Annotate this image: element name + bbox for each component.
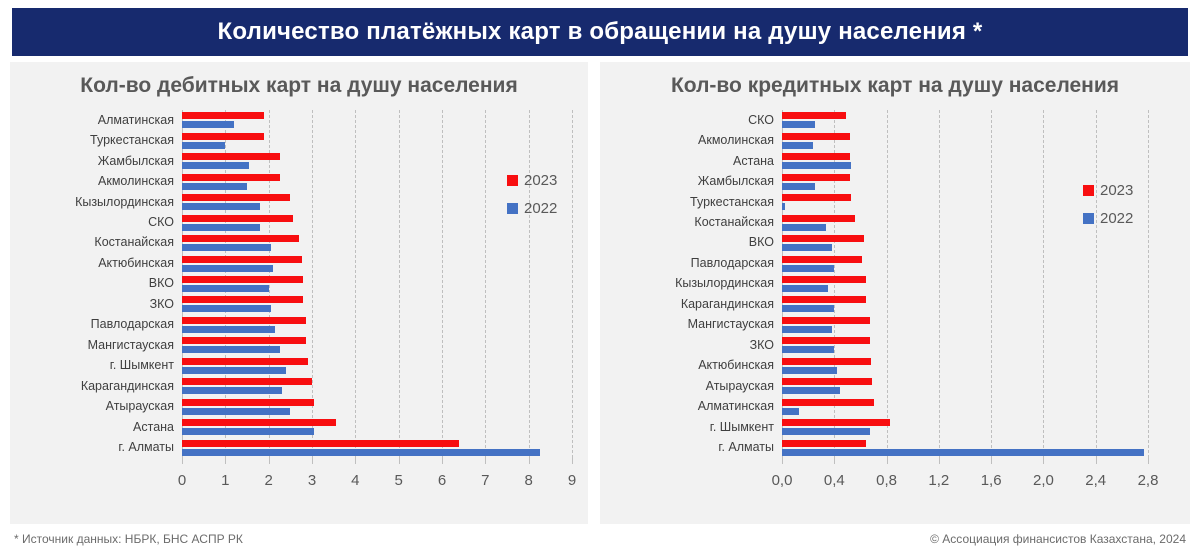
category-label: Акмолинская	[600, 134, 782, 147]
chart-row: г. Шымкент	[10, 356, 588, 376]
bar-2022	[182, 224, 260, 231]
chart-row: ЗКО	[10, 294, 588, 314]
bar-2023	[182, 112, 264, 119]
bar-2023	[182, 235, 299, 242]
axis-tick-label: 6	[438, 472, 446, 489]
bar-2022	[782, 346, 834, 353]
bar-2023	[182, 419, 336, 426]
bar-2023	[782, 419, 890, 426]
axis-tick-label: 9	[568, 472, 576, 489]
bar-2022	[782, 428, 870, 435]
bar-group	[182, 274, 588, 294]
bar-group	[182, 438, 588, 458]
category-label: Атырауская	[10, 400, 182, 413]
chart-row: Алматинская	[600, 397, 1190, 417]
bar-2023	[182, 317, 306, 324]
category-label: ВКО	[10, 277, 182, 290]
category-label: Туркестанская	[600, 196, 782, 209]
bar-group	[782, 130, 1190, 150]
axis-tickmark	[355, 458, 356, 464]
bar-2022	[182, 305, 271, 312]
plot-area-credit: СКОАкмолинскаяАстанаЖамбылскаяТуркестанс…	[600, 110, 1190, 524]
axis-tickmark	[182, 458, 183, 464]
bar-2023	[782, 194, 851, 201]
category-label: г. Шымкент	[600, 421, 782, 434]
chart-row: ЗКО	[600, 335, 1190, 355]
bar-group	[182, 315, 588, 335]
category-label: г. Алматы	[10, 441, 182, 454]
bar-2023	[182, 378, 312, 385]
chart-row: г. Шымкент	[600, 417, 1190, 437]
chart-row: Астана	[10, 417, 588, 437]
chart-row: Мангистауская	[600, 315, 1190, 335]
bar-2022	[182, 121, 234, 128]
category-label: Павлодарская	[10, 318, 182, 331]
bar-2022	[182, 387, 282, 394]
bar-2022	[182, 285, 269, 292]
legend-item-2023[interactable]: 2023	[507, 172, 557, 189]
chart-row: Кызылординская	[10, 192, 588, 212]
bar-2023	[782, 358, 871, 365]
category-label: ЗКО	[600, 339, 782, 352]
axis-tickmark	[1148, 458, 1149, 464]
bar-2023	[782, 296, 866, 303]
bar-2023	[182, 194, 290, 201]
bar-2023	[782, 235, 864, 242]
axis-tick-label: 7	[481, 472, 489, 489]
bar-2023	[782, 215, 855, 222]
category-label: г. Алматы	[600, 441, 782, 454]
bar-group	[182, 253, 588, 273]
chart-row: СКО	[600, 110, 1190, 130]
axis-tick-label: 2	[264, 472, 272, 489]
chart-panel-credit: Кол-во кредитных карт на душу населения …	[600, 62, 1190, 524]
bar-2022	[182, 244, 271, 251]
category-label: Карагандинская	[10, 380, 182, 393]
category-label: Астана	[600, 155, 782, 168]
bar-rows-credit: СКОАкмолинскаяАстанаЖамбылскаяТуркестанс…	[600, 110, 1190, 458]
category-label: Алматинская	[10, 114, 182, 127]
category-label: Мангистауская	[10, 339, 182, 352]
bar-2022	[782, 285, 828, 292]
bar-2022	[782, 305, 834, 312]
legend-swatch-icon	[507, 175, 518, 186]
bar-2022	[182, 449, 540, 456]
chart-row: Актюбинская	[10, 253, 588, 273]
axis-tickmark	[442, 458, 443, 464]
bar-group	[182, 151, 588, 171]
bar-2022	[782, 449, 1144, 456]
bar-2022	[782, 203, 785, 210]
bar-2022	[182, 367, 286, 374]
bar-group	[182, 294, 588, 314]
axis-tick-label: 2,0	[1033, 472, 1054, 489]
bar-group	[182, 376, 588, 396]
chart-row: Актюбинская	[600, 356, 1190, 376]
category-label: Актюбинская	[10, 257, 182, 270]
bar-group	[782, 438, 1190, 458]
chart-row: ВКО	[600, 233, 1190, 253]
axis-tickmark	[312, 458, 313, 464]
bar-group	[782, 253, 1190, 273]
infographic-page: Количество платёжных карт в обращении на…	[0, 0, 1200, 555]
category-label: Костанайская	[600, 216, 782, 229]
category-label: ЗКО	[10, 298, 182, 311]
page-title: Количество платёжных карт в обращении на…	[218, 18, 983, 46]
axis-tick-label: 3	[308, 472, 316, 489]
chart-row: Павлодарская	[10, 315, 588, 335]
axis-tickmark	[939, 458, 940, 464]
bar-2022	[182, 346, 280, 353]
axis-tick-label: 8	[524, 472, 532, 489]
legend-item-2022[interactable]: 2022	[507, 200, 557, 217]
category-label: СКО	[10, 216, 182, 229]
legend-label: 2022	[1100, 210, 1133, 227]
category-label: Кызылординская	[600, 277, 782, 290]
bar-rows-debit: АлматинскаяТуркестанскаяЖамбылскаяАкмоли…	[10, 110, 588, 458]
bar-2023	[782, 112, 846, 119]
axis-tick-label: 1,2	[928, 472, 949, 489]
bar-2022	[782, 121, 815, 128]
bar-group	[782, 110, 1190, 130]
bar-group	[182, 397, 588, 417]
bar-2022	[182, 183, 247, 190]
category-label: СКО	[600, 114, 782, 127]
bar-2022	[182, 408, 290, 415]
bar-2022	[182, 142, 225, 149]
chart-row: Карагандинская	[600, 294, 1190, 314]
bar-2023	[782, 174, 850, 181]
bar-2023	[782, 399, 874, 406]
category-label: Актюбинская	[600, 359, 782, 372]
axis-tickmark	[225, 458, 226, 464]
bar-2023	[182, 399, 314, 406]
axis-tickmark	[572, 458, 573, 464]
chart-row: г. Алматы	[600, 438, 1190, 458]
bar-2022	[182, 428, 314, 435]
chart-row: Астана	[600, 151, 1190, 171]
axis-tickmark	[399, 458, 400, 464]
bar-2023	[182, 276, 303, 283]
legend-swatch-icon	[1083, 185, 1094, 196]
chart-row: г. Алматы	[10, 438, 588, 458]
bar-2022	[782, 244, 832, 251]
axis-tick-label: 1,6	[981, 472, 1002, 489]
category-label: Жамбылская	[600, 175, 782, 188]
bar-group	[182, 110, 588, 130]
category-label: ВКО	[600, 236, 782, 249]
chart-row: Мангистауская	[10, 335, 588, 355]
bar-2023	[182, 337, 306, 344]
chart-row: ВКО	[10, 274, 588, 294]
chart-row: Туркестанская	[10, 130, 588, 150]
axis-tick-label: 0,4	[824, 472, 845, 489]
legend-label: 2023	[524, 172, 557, 189]
axis-tick-label: 0,8	[876, 472, 897, 489]
bar-group	[182, 130, 588, 150]
legend-item-2022[interactable]: 2022	[1083, 210, 1133, 227]
x-axis-debit: 0123456789	[10, 458, 588, 498]
chart-row: Атырауская	[10, 397, 588, 417]
category-label: Астана	[10, 421, 182, 434]
category-label: Атырауская	[600, 380, 782, 393]
category-label: г. Шымкент	[10, 359, 182, 372]
legend-swatch-icon	[507, 203, 518, 214]
axis-tick-label: 2,8	[1138, 472, 1159, 489]
bar-2022	[782, 265, 834, 272]
bar-2022	[782, 326, 832, 333]
legend-credit: 20232022	[1083, 182, 1133, 227]
bar-group	[782, 397, 1190, 417]
bar-2022	[182, 162, 249, 169]
bar-group	[782, 294, 1190, 314]
bar-2023	[182, 153, 280, 160]
axis-tickmark	[1096, 458, 1097, 464]
bar-group	[182, 356, 588, 376]
bar-2023	[782, 276, 866, 283]
bar-2023	[182, 440, 459, 447]
bar-group	[782, 274, 1190, 294]
x-axis-credit: 0,00,40,81,21,62,02,42,8	[600, 458, 1190, 498]
legend-swatch-icon	[1083, 213, 1094, 224]
bar-2022	[182, 326, 275, 333]
legend-item-2023[interactable]: 2023	[1083, 182, 1133, 199]
bar-2022	[782, 142, 813, 149]
bar-group	[782, 356, 1190, 376]
chart-title-debit: Кол-во дебитных карт на душу населения	[10, 74, 588, 98]
bar-group	[182, 233, 588, 253]
axis-tick-label: 0,0	[772, 472, 793, 489]
axis-tick-label: 1	[221, 472, 229, 489]
bar-2022	[182, 265, 273, 272]
category-label: Алматинская	[600, 400, 782, 413]
category-label: Мангистауская	[600, 318, 782, 331]
bar-2023	[182, 133, 264, 140]
chart-row: Акмолинская	[10, 171, 588, 191]
bar-group	[782, 417, 1190, 437]
footer-source-note: * Источник данных: НБРК, БНС АСПР РК	[14, 532, 243, 546]
page-footer: * Источник данных: НБРК, БНС АСПР РК © А…	[0, 528, 1200, 555]
chart-row: Павлодарская	[600, 253, 1190, 273]
category-label: Кызылординская	[10, 196, 182, 209]
axis-tickmark	[485, 458, 486, 464]
bar-2023	[782, 337, 870, 344]
category-label: Павлодарская	[600, 257, 782, 270]
axis-tick-label: 5	[394, 472, 402, 489]
bar-group	[782, 315, 1190, 335]
bar-2022	[782, 162, 851, 169]
chart-title-credit: Кол-во кредитных карт на душу населения	[600, 74, 1190, 98]
bar-group	[182, 417, 588, 437]
axis-tickmark	[991, 458, 992, 464]
legend-debit: 20232022	[507, 172, 557, 217]
axis-tick-label: 2,4	[1085, 472, 1106, 489]
chart-row: Костанайская	[10, 233, 588, 253]
bar-2023	[782, 256, 862, 263]
bar-2023	[182, 256, 302, 263]
axis-tickmark	[887, 458, 888, 464]
bar-2022	[782, 408, 799, 415]
axis-tick-label: 4	[351, 472, 359, 489]
plot-area-debit: АлматинскаяТуркестанскаяЖамбылскаяАкмоли…	[10, 110, 588, 524]
bar-2023	[182, 174, 280, 181]
axis-tickmark	[782, 458, 783, 464]
legend-label: 2023	[1100, 182, 1133, 199]
category-label: Акмолинская	[10, 175, 182, 188]
chart-row: Жамбылская	[10, 151, 588, 171]
bar-2022	[182, 203, 260, 210]
bar-2023	[782, 440, 866, 447]
bar-2023	[782, 378, 872, 385]
bar-group	[782, 376, 1190, 396]
bar-group	[782, 335, 1190, 355]
chart-row: СКО	[10, 212, 588, 232]
footer-copyright: © Ассоциация финансистов Казахстана, 202…	[930, 532, 1186, 546]
bar-2023	[182, 358, 308, 365]
bar-2022	[782, 183, 815, 190]
bar-2023	[782, 153, 850, 160]
axis-tickmark	[529, 458, 530, 464]
bar-2022	[782, 387, 840, 394]
bar-group	[782, 233, 1190, 253]
category-label: Туркестанская	[10, 134, 182, 147]
chart-panel-debit: Кол-во дебитных карт на душу населения А…	[10, 62, 588, 524]
chart-row: Алматинская	[10, 110, 588, 130]
bar-2023	[782, 317, 870, 324]
axis-tickmark	[269, 458, 270, 464]
bar-2023	[182, 215, 293, 222]
charts-container: Кол-во дебитных карт на душу населения А…	[0, 62, 1200, 524]
legend-label: 2022	[524, 200, 557, 217]
category-label: Жамбылская	[10, 155, 182, 168]
chart-row: Карагандинская	[10, 376, 588, 396]
axis-tickmark	[1043, 458, 1044, 464]
axis-tick-label: 0	[178, 472, 186, 489]
bar-group	[182, 335, 588, 355]
category-label: Костанайская	[10, 236, 182, 249]
bar-2023	[182, 296, 303, 303]
chart-row: Кызылординская	[600, 274, 1190, 294]
bar-2022	[782, 367, 837, 374]
chart-row: Акмолинская	[600, 130, 1190, 150]
chart-row: Атырауская	[600, 376, 1190, 396]
bar-2022	[782, 224, 826, 231]
category-label: Карагандинская	[600, 298, 782, 311]
page-header-banner: Количество платёжных карт в обращении на…	[12, 8, 1188, 56]
bar-group	[782, 151, 1190, 171]
bar-2023	[782, 133, 850, 140]
axis-tickmark	[834, 458, 835, 464]
